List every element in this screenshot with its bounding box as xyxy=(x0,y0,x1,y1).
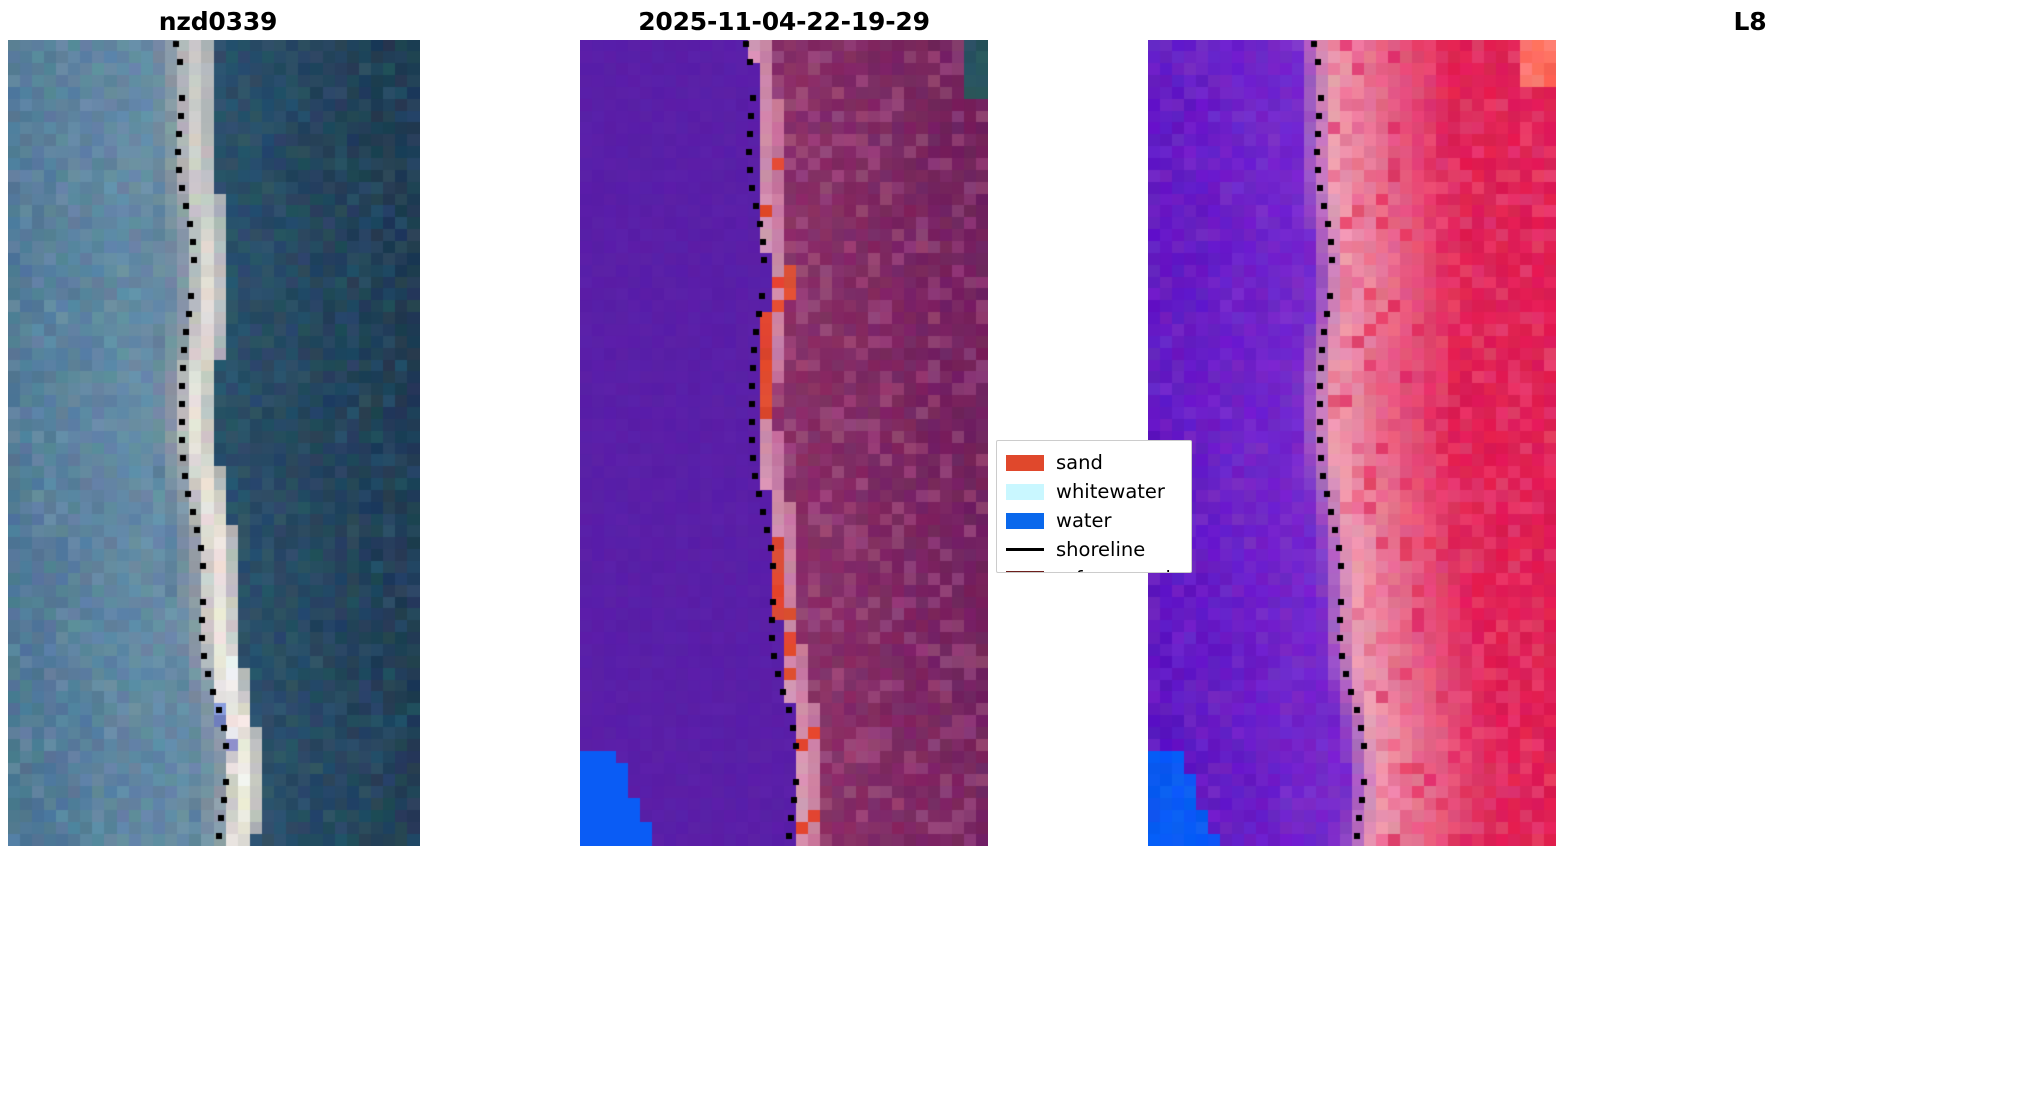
legend-swatch xyxy=(1006,571,1044,574)
legend-line-marker xyxy=(1006,542,1044,558)
legend-label: whitewater xyxy=(1056,482,1165,502)
l8-raster xyxy=(1148,40,1556,846)
legend-label: shoreline xyxy=(1056,540,1145,560)
panel-l8-image[interactable] xyxy=(1148,40,1556,846)
legend-swatch xyxy=(1006,513,1044,529)
panel-title-classified: 2025-11-04-22-19-29 xyxy=(384,7,1184,36)
legend-item-reference[interactable]: reference shoreline xyxy=(1006,564,1182,573)
panel-classified-image[interactable] xyxy=(580,40,988,846)
legend-item-water[interactable]: water xyxy=(1006,506,1182,535)
legend-label: reference shoreline xyxy=(1056,569,1192,573)
panel-title-l8: L8 xyxy=(1350,7,2035,36)
legend-label: sand xyxy=(1056,453,1103,473)
panel-rgb-image[interactable] xyxy=(8,40,420,846)
legend-swatch xyxy=(1006,484,1044,500)
figure-canvas: nzd0339 2025-11-04-22-19-29 L8 sandwhite… xyxy=(0,0,2035,1108)
legend-item-whitewater[interactable]: whitewater xyxy=(1006,477,1182,506)
class-legend[interactable]: sandwhitewaterwatershorelinereference sh… xyxy=(996,440,1192,573)
classified-raster xyxy=(580,40,988,846)
legend-item-shoreline[interactable]: shoreline xyxy=(1006,535,1182,564)
legend-swatch xyxy=(1006,455,1044,471)
legend-item-sand[interactable]: sand xyxy=(1006,448,1182,477)
legend-label: water xyxy=(1056,511,1112,531)
rgb-raster xyxy=(8,40,420,846)
